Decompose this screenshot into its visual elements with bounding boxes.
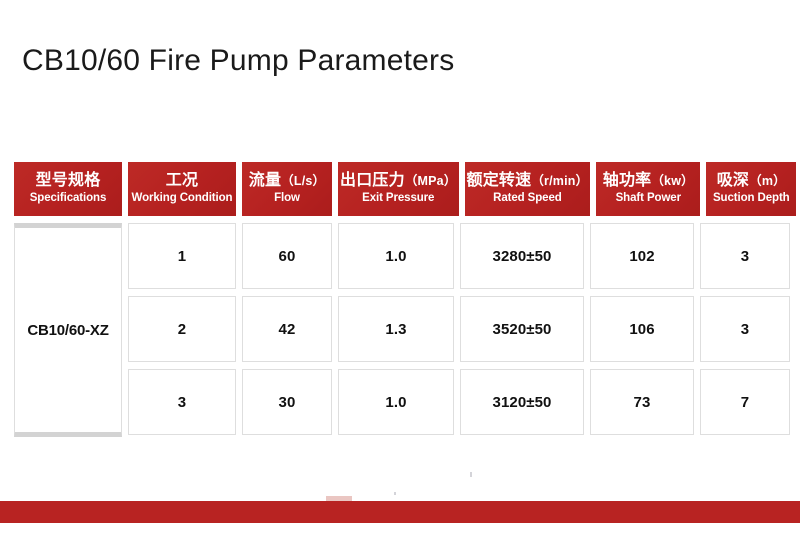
cell-suction-depth: 3 <box>700 223 790 289</box>
header-en-flow: Flow <box>274 192 300 204</box>
cell-working-condition: 1 <box>128 223 236 289</box>
cell-suction-depth: 7 <box>700 369 790 435</box>
cell-exit-pressure: 1.0 <box>338 223 454 289</box>
header-en-specifications: Specifications <box>30 192 107 204</box>
header-cell-specifications: 型号规格 Specifications <box>14 162 122 216</box>
header-en-working-condition: Working Condition <box>132 192 233 204</box>
header-cn-rated-speed: 额定转速（r/min） <box>467 173 589 190</box>
cell-shaft-power: 73 <box>590 369 694 435</box>
cell-flow: 30 <box>242 369 332 435</box>
cell-flow: 42 <box>242 296 332 362</box>
cell-working-condition: 2 <box>128 296 236 362</box>
cell-flow: 60 <box>242 223 332 289</box>
spec-merged-cell: CB10/60-XZ <box>14 223 122 437</box>
cell-rated-speed: 3120±50 <box>460 369 584 435</box>
cell-suction-depth: 3 <box>700 296 790 362</box>
header-en-rated-speed: Rated Speed <box>493 192 562 204</box>
table-header-row: 型号规格 Specifications 工况 Working Condition… <box>14 162 790 216</box>
cell-shaft-power: 102 <box>590 223 694 289</box>
scan-speck <box>394 492 396 495</box>
scan-speck <box>470 472 472 477</box>
header-cell-suction-depth: 吸深（m） Suction Depth <box>706 162 796 216</box>
header-en-exit-pressure: Exit Pressure <box>362 192 434 204</box>
header-cell-exit-pressure: 出口压力（MPa） Exit Pressure <box>338 162 459 216</box>
bottom-accent-bar <box>0 501 800 523</box>
data-rows: 1 60 1.0 3280±50 102 3 2 42 1.3 3520±50 … <box>128 223 790 437</box>
header-cell-shaft-power: 轴功率（kw） Shaft Power <box>596 162 700 216</box>
header-cn-flow: 流量（L/s） <box>249 173 325 190</box>
spec-value: CB10/60-XZ <box>27 322 108 339</box>
cell-shaft-power: 106 <box>590 296 694 362</box>
header-cn-working-condition: 工况 <box>166 173 198 190</box>
cell-rated-speed: 3280±50 <box>460 223 584 289</box>
table-row: 2 42 1.3 3520±50 106 3 <box>128 296 790 362</box>
header-cell-rated-speed: 额定转速（r/min） Rated Speed <box>465 162 591 216</box>
cell-exit-pressure: 1.0 <box>338 369 454 435</box>
table-row: 3 30 1.0 3120±50 73 7 <box>128 369 790 435</box>
header-cn-suction-depth: 吸深（m） <box>717 173 786 190</box>
cell-working-condition: 3 <box>128 369 236 435</box>
header-cn-shaft-power: 轴功率（kw） <box>603 173 694 190</box>
table-body: CB10/60-XZ 1 60 1.0 3280±50 102 3 2 42 1… <box>14 223 790 437</box>
header-cn-specifications: 型号规格 <box>36 173 101 190</box>
header-en-shaft-power: Shaft Power <box>616 192 681 204</box>
page-title: CB10/60 Fire Pump Parameters <box>22 44 454 78</box>
cell-exit-pressure: 1.3 <box>338 296 454 362</box>
cell-rated-speed: 3520±50 <box>460 296 584 362</box>
header-en-suction-depth: Suction Depth <box>713 192 790 204</box>
header-cn-exit-pressure: 出口压力（MPa） <box>340 173 457 190</box>
header-cell-flow: 流量（L/s） Flow <box>242 162 332 216</box>
header-cell-working-condition: 工况 Working Condition <box>128 162 236 216</box>
parameter-table: 型号规格 Specifications 工况 Working Condition… <box>14 162 790 437</box>
table-row: 1 60 1.0 3280±50 102 3 <box>128 223 790 289</box>
